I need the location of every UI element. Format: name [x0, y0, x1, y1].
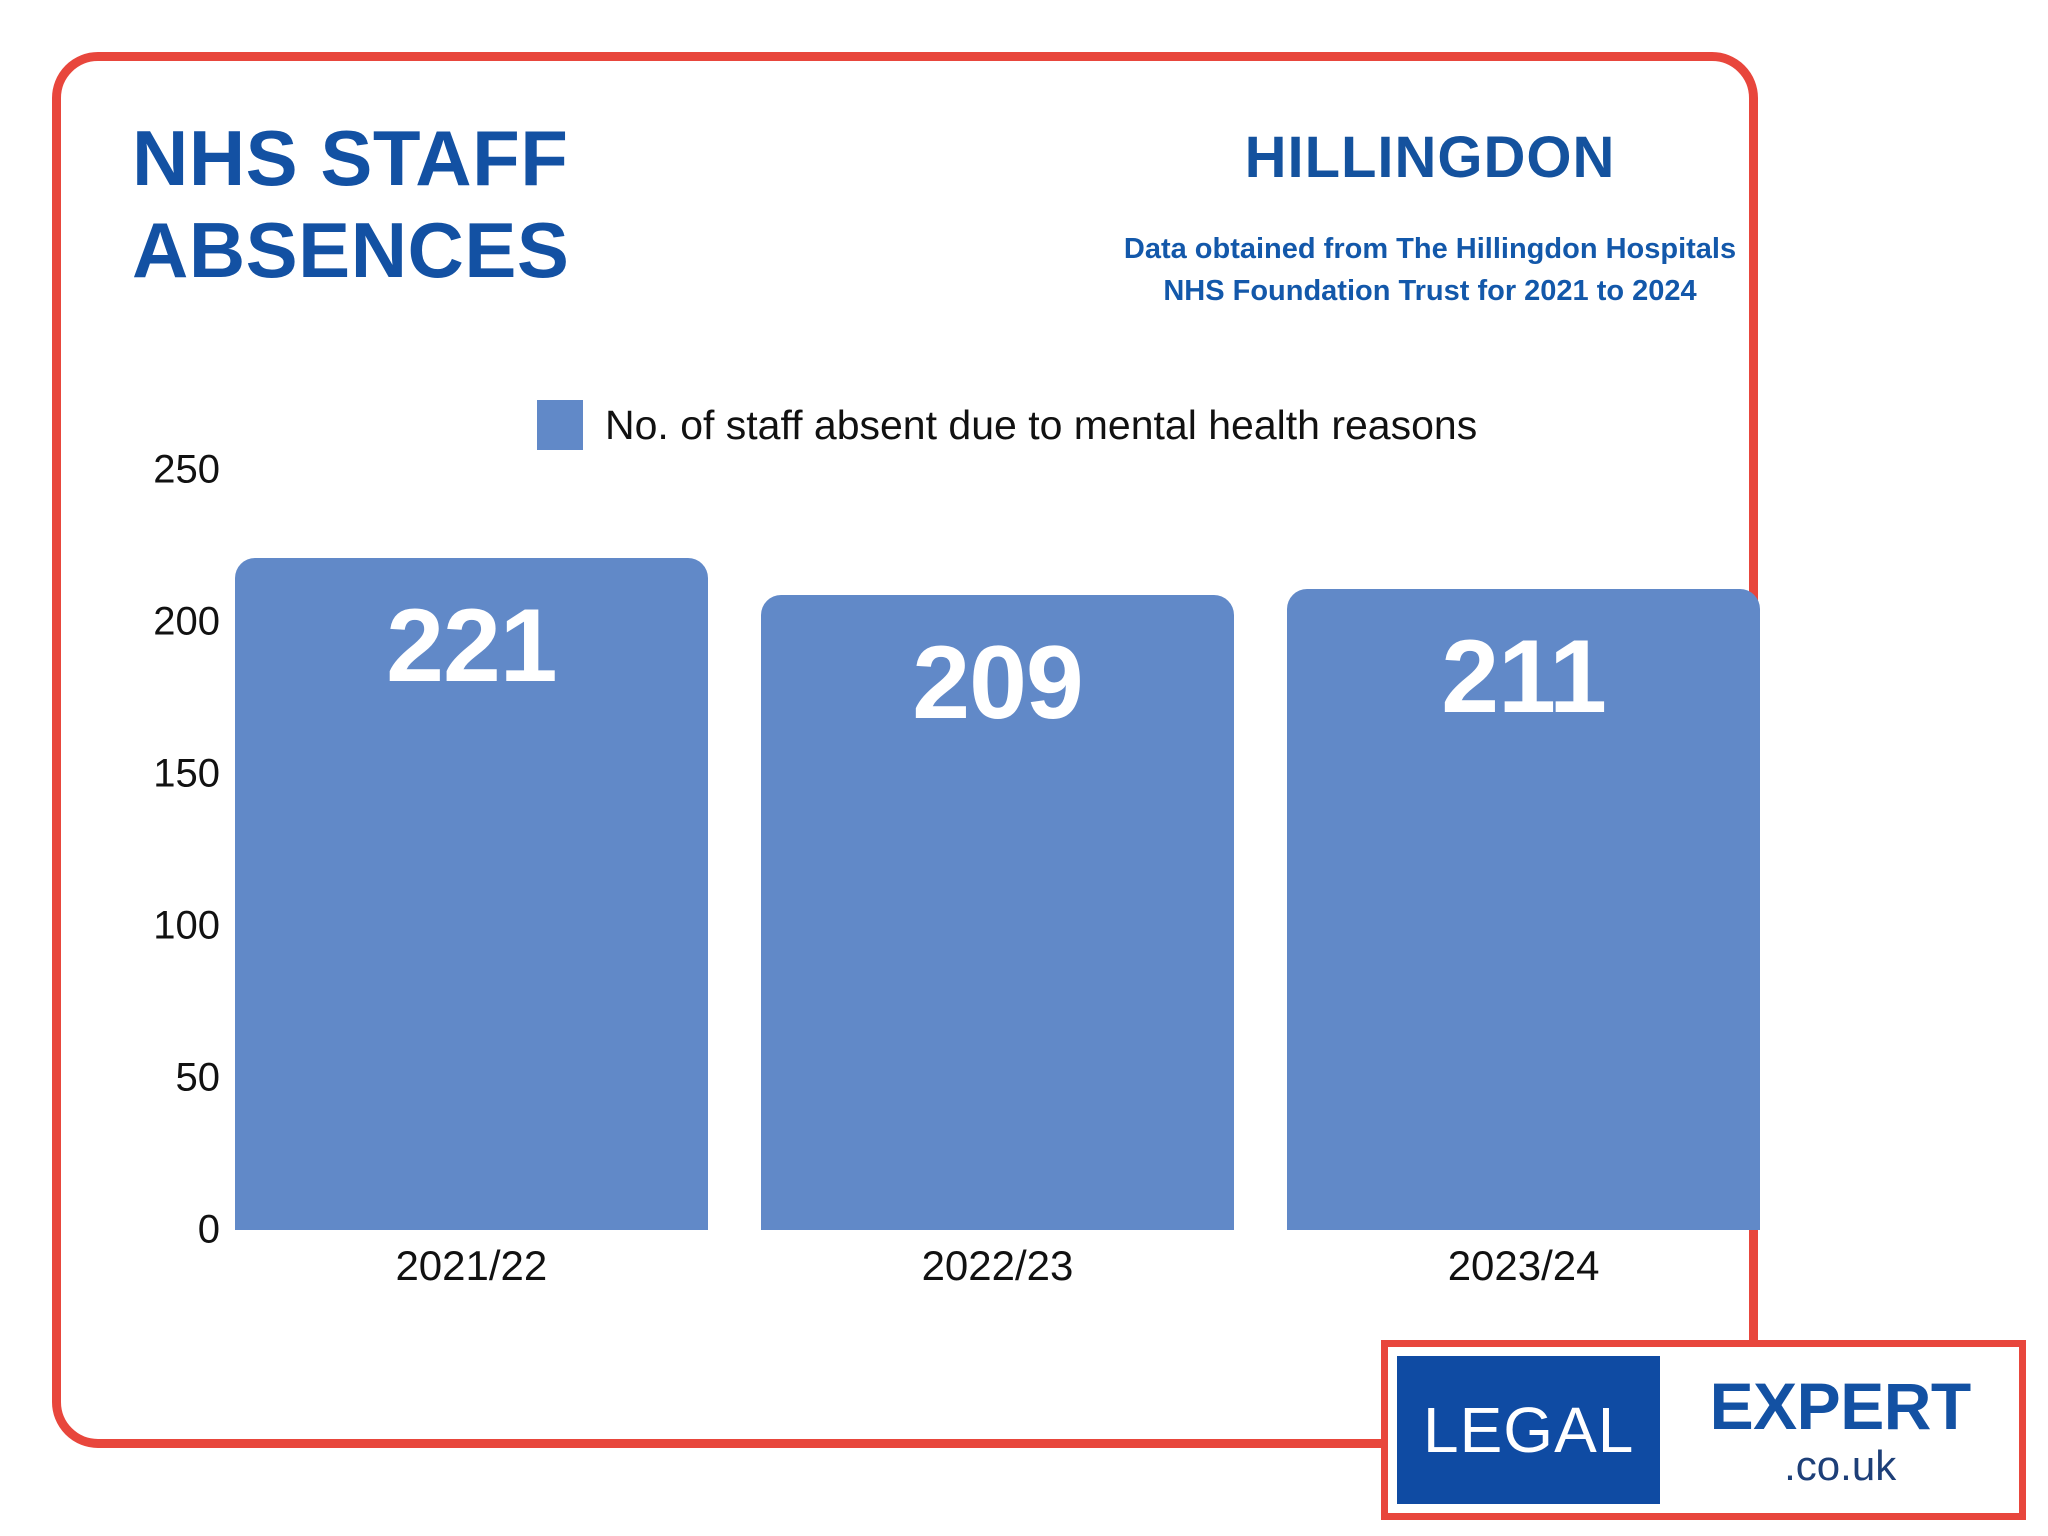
x-axis: 2021/22 2022/23 2023/24 [235, 1242, 1760, 1290]
chart-legend: No. of staff absent due to mental health… [537, 400, 1477, 450]
bar-value-label: 221 [386, 594, 557, 698]
subtitle-line-1: Data obtained from The Hillingdon Hospit… [1040, 228, 1820, 270]
bar-column: 211 [1287, 470, 1760, 1230]
logo-domain-text: .co.uk [1784, 1445, 1896, 1487]
subtitle-line-2: NHS Foundation Trust for 2021 to 2024 [1040, 270, 1820, 312]
logo-left-box: LEGAL [1397, 1356, 1660, 1504]
page-title: NHS STAFF ABSENCES [132, 112, 812, 296]
x-axis-tick: 2022/23 [761, 1242, 1234, 1290]
bar-2021-22[interactable]: 221 [235, 558, 708, 1230]
x-axis-tick: 2023/24 [1287, 1242, 1760, 1290]
bar-value-label: 209 [912, 631, 1083, 735]
legend-label: No. of staff absent due to mental health… [605, 402, 1477, 449]
legend-swatch-icon [537, 400, 583, 450]
y-axis-tick: 0 [198, 1208, 220, 1253]
bar-group: 221 209 211 [235, 470, 1760, 1230]
bar-2022-23[interactable]: 209 [761, 595, 1234, 1230]
y-axis-tick: 200 [153, 600, 220, 645]
y-axis-tick: 100 [153, 904, 220, 949]
x-axis-tick: 2021/22 [235, 1242, 708, 1290]
y-axis-tick: 150 [153, 752, 220, 797]
data-source-subtitle: Data obtained from The Hillingdon Hospit… [1040, 228, 1820, 312]
logo-right-box: EXPERT .co.uk [1660, 1356, 2010, 1504]
logo-legal-text: LEGAL [1423, 1398, 1634, 1462]
plot-area: 221 209 211 [235, 470, 1760, 1230]
logo-expert-text: EXPERT [1710, 1373, 1971, 1439]
bar-column: 209 [761, 470, 1234, 1230]
bar-2023-24[interactable]: 211 [1287, 589, 1760, 1230]
y-axis: 250 200 150 100 50 0 [100, 470, 220, 1230]
bar-column: 221 [235, 470, 708, 1230]
legal-expert-logo[interactable]: LEGAL EXPERT .co.uk [1381, 1340, 2026, 1520]
region-title: HILLINGDON [1040, 124, 1820, 191]
y-axis-tick: 250 [153, 448, 220, 493]
bar-value-label: 211 [1441, 625, 1606, 729]
y-axis-tick: 50 [176, 1056, 221, 1101]
bar-chart: 250 200 150 100 50 0 221 209 [100, 470, 1760, 1310]
infographic-canvas: NHS STAFF ABSENCES HILLINGDON Data obtai… [0, 0, 2048, 1536]
